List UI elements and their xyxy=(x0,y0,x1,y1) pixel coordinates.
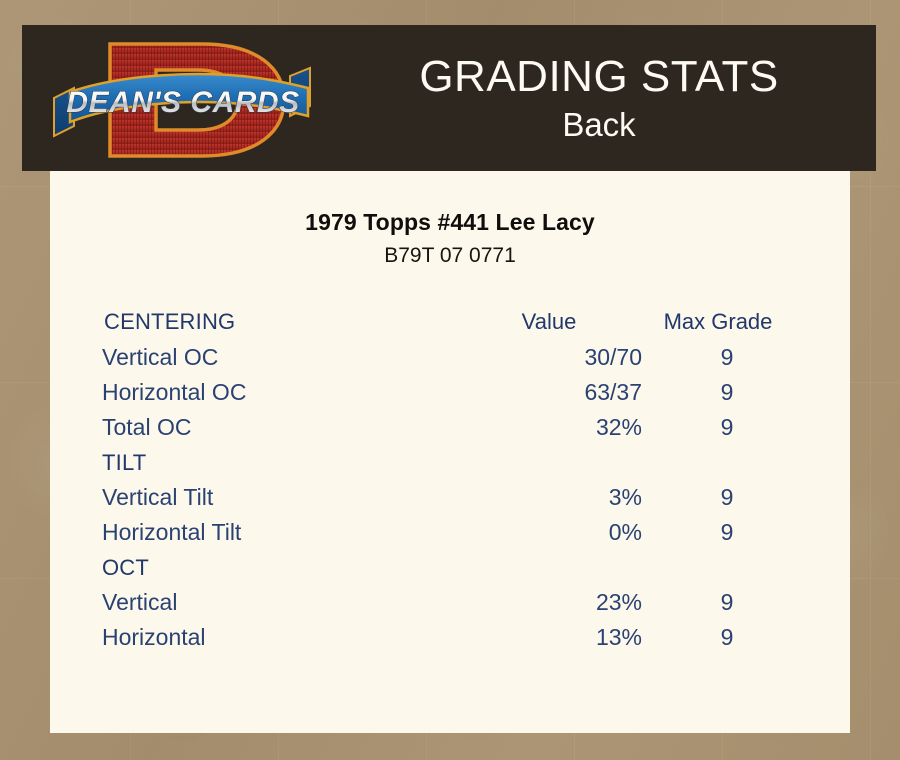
table-row: Vertical Tilt 3% 9 xyxy=(102,480,812,515)
stats-table-body: Vertical OC 30/70 9 Horizontal OC 63/37 … xyxy=(102,340,812,655)
table-header-row: CENTERING Value Max Grade xyxy=(102,304,812,340)
row-value: 0% xyxy=(472,515,642,550)
section-spacer-value xyxy=(472,550,642,585)
logo-ribbon-text: DEAN'S CARDS xyxy=(66,86,299,119)
table-row: Total OC 32% 9 xyxy=(102,410,812,445)
card-id: B79T 07 0771 xyxy=(50,236,850,268)
row-value: 13% xyxy=(472,620,642,655)
row-max-grade: 9 xyxy=(642,410,812,445)
row-value: 32% xyxy=(472,410,642,445)
section-header-oct: OCT xyxy=(102,550,812,585)
row-value: 23% xyxy=(472,585,642,620)
row-label: Horizontal Tilt xyxy=(102,515,472,550)
deans-cards-logo[interactable]: DEAN'S CARDS xyxy=(52,30,314,170)
section-title: OCT xyxy=(102,550,472,585)
row-label: Total OC xyxy=(102,410,472,445)
row-max-grade: 9 xyxy=(642,620,812,655)
page-subtitle: Back xyxy=(562,105,635,145)
row-label: Vertical xyxy=(102,585,472,620)
section-title: TILT xyxy=(102,445,472,480)
table-row: Vertical OC 30/70 9 xyxy=(102,340,812,375)
header-bar: DEAN'S CARDS GRADING STATS Back xyxy=(22,25,876,171)
page-title: GRADING STATS xyxy=(419,51,778,103)
row-label: Horizontal xyxy=(102,620,472,655)
table-row: Horizontal Tilt 0% 9 xyxy=(102,515,812,550)
content-panel: 1979 Topps #441 Lee Lacy B79T 07 0771 CE… xyxy=(50,171,850,733)
row-value: 63/37 xyxy=(472,375,642,410)
grading-stats-table: CENTERING Value Max Grade Vertical OC 30… xyxy=(102,304,812,655)
section-spacer-value xyxy=(472,445,642,480)
section-spacer-grade xyxy=(642,445,812,480)
row-max-grade: 9 xyxy=(642,375,812,410)
column-header-value: Value xyxy=(472,304,642,340)
table-row: Horizontal OC 63/37 9 xyxy=(102,375,812,410)
column-header-centering: CENTERING xyxy=(102,304,472,340)
row-max-grade: 9 xyxy=(642,515,812,550)
row-value: 30/70 xyxy=(472,340,642,375)
row-max-grade: 9 xyxy=(642,340,812,375)
row-label: Vertical Tilt xyxy=(102,480,472,515)
row-label: Horizontal OC xyxy=(102,375,472,410)
table-row: Horizontal 13% 9 xyxy=(102,620,812,655)
section-spacer-grade xyxy=(642,550,812,585)
section-header-tilt: TILT xyxy=(102,445,812,480)
card-title: 1979 Topps #441 Lee Lacy xyxy=(50,171,850,236)
row-label: Vertical OC xyxy=(102,340,472,375)
column-header-max-grade: Max Grade xyxy=(642,304,812,340)
header-title-block: GRADING STATS Back xyxy=(322,25,876,171)
row-max-grade: 9 xyxy=(642,585,812,620)
row-max-grade: 9 xyxy=(642,480,812,515)
stats-table-head: CENTERING Value Max Grade xyxy=(102,304,812,340)
row-value: 3% xyxy=(472,480,642,515)
table-row: Vertical 23% 9 xyxy=(102,585,812,620)
grading-stats-page: DEAN'S CARDS GRADING STATS Back 1979 Top… xyxy=(0,0,900,760)
